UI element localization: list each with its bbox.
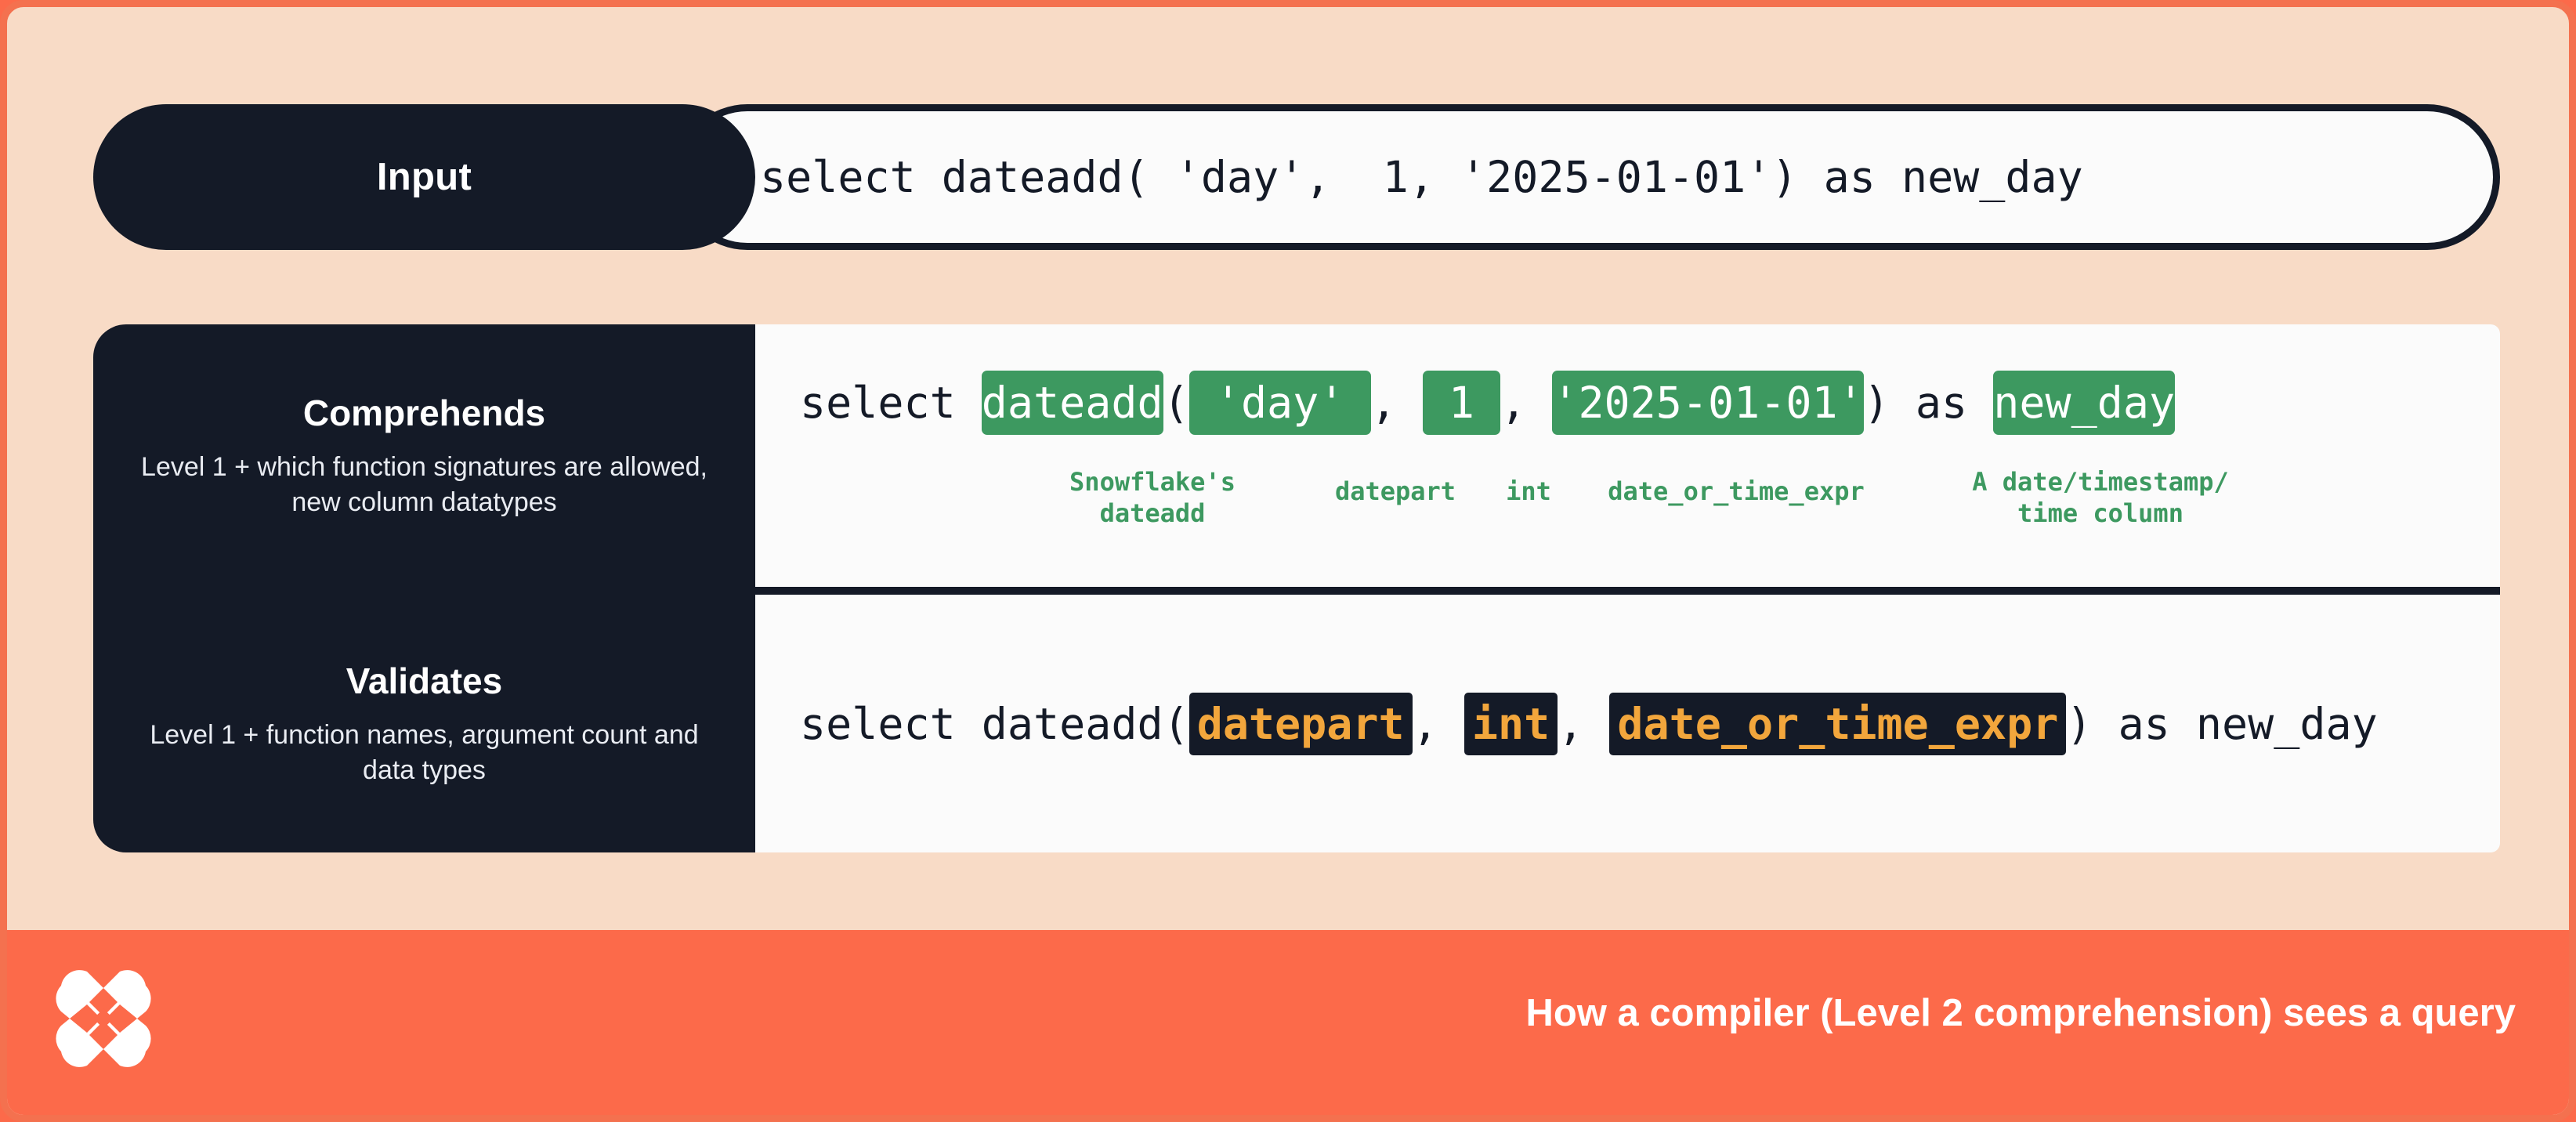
code-token-highlight: 'day' [1189, 371, 1371, 435]
label-cell-validates: Validates Level 1 + function names, argu… [93, 595, 755, 852]
code-line-validates: select dateadd(datepart, int, date_or_ti… [753, 677, 2500, 771]
code-token-plain: select [800, 378, 982, 428]
code-token-highlight: '2025-01-01' [1552, 371, 1863, 435]
code-annotation: datepart [1301, 476, 1489, 507]
label-subtitle-validates: Level 1 + function names, argument count… [135, 718, 715, 787]
code-token-plain: ) as [1864, 378, 1994, 428]
levels-block: select dateadd( 'day' , 1 , '2025-01-01'… [93, 324, 2500, 852]
code-annotation: date_or_time_expr [1560, 476, 1912, 507]
code-token-plain: , [1371, 378, 1423, 428]
label-column: Comprehends Level 1 + which function sig… [93, 324, 755, 852]
code-token-plain: select dateadd( [800, 699, 1189, 749]
input-code-text: select dateadd( 'day', 1, '2025-01-01') … [760, 152, 2083, 202]
code-token-plain: ) as new_day [2066, 699, 2377, 749]
code-line-comprehends: select dateadd( 'day' , 1 , '2025-01-01'… [753, 356, 2500, 450]
input-code-panel: select dateadd( 'day', 1, '2025-01-01') … [675, 104, 2500, 250]
annotation-group: Snowflake's dateadddatepartintdate_or_ti… [753, 461, 2500, 556]
code-cell-comprehends: select dateadd( 'day' , 1 , '2025-01-01'… [753, 324, 2500, 587]
input-label-text: Input [377, 155, 472, 199]
label-cell-comprehends: Comprehends Level 1 + which function sig… [93, 324, 755, 587]
code-token-highlight: new_day [1993, 371, 2175, 435]
code-token-plain: , [1413, 699, 1464, 749]
code-annotation: A date/timestamp/ time column [1905, 466, 2296, 529]
label-title-validates: Validates [346, 660, 502, 702]
code-token-highlight: dateadd [982, 371, 1163, 435]
code-token-plain: , [1558, 699, 1609, 749]
code-token-plain: , [1500, 378, 1552, 428]
code-annotation: Snowflake's dateadd [1027, 466, 1278, 529]
x-mark-logo [45, 960, 162, 1077]
code-token-highlight: 1 [1423, 371, 1500, 435]
input-row: select dateadd( 'day', 1, '2025-01-01') … [93, 104, 2500, 250]
infographic-card: select dateadd( 'day', 1, '2025-01-01') … [0, 0, 2576, 1122]
footer-bar: How a compiler (Level 2 comprehension) s… [7, 930, 2576, 1115]
code-cell-validates: select dateadd(datepart, int, date_or_ti… [753, 595, 2500, 852]
label-subtitle-comprehends: Level 1 + which function signatures are … [135, 450, 715, 519]
code-token-chip: int [1464, 693, 1558, 755]
code-token-chip: date_or_time_expr [1609, 693, 2066, 755]
label-title-comprehends: Comprehends [303, 392, 545, 434]
row-divider [753, 587, 2500, 595]
code-token-plain: ( [1163, 378, 1189, 428]
input-label-pill: Input [93, 104, 755, 250]
code-token-chip: datepart [1189, 693, 1413, 755]
footer-caption: How a compiler (Level 2 comprehension) s… [1525, 991, 2516, 1035]
